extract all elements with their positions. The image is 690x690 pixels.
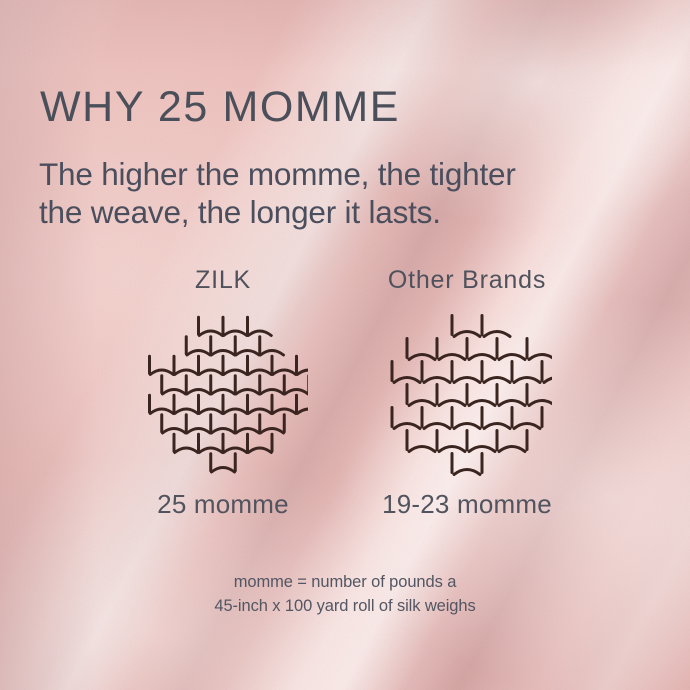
subtitle-line-2: the weave, the longer it lasts.: [39, 193, 639, 231]
column-value-zilk: 25 momme: [157, 491, 289, 517]
silk-momme-infographic: WHY 25 MOMME The higher the momme, the t…: [0, 0, 690, 690]
comparison-columns: ZILK 25 momme Other Brands 19-23 momme: [0, 268, 690, 517]
column-value-other-brands: 19-23 momme: [382, 491, 552, 517]
subtitle: The higher the momme, the tighter the we…: [39, 155, 639, 231]
infographic-content: WHY 25 MOMME The higher the momme, the t…: [0, 0, 690, 690]
loose-weave-icon: [382, 311, 552, 477]
subtitle-line-1: The higher the momme, the tighter: [39, 155, 639, 193]
footnote-line-2: 45-inch x 100 yard roll of silk weighs: [0, 594, 690, 618]
page-title: WHY 25 MOMME: [40, 86, 400, 129]
comparison-column-zilk: ZILK 25 momme: [128, 268, 318, 517]
footnote-line-1: momme = number of pounds a: [0, 570, 690, 594]
column-title-other-brands: Other Brands: [388, 268, 546, 293]
footnote: momme = number of pounds a 45-inch x 100…: [0, 570, 690, 618]
comparison-column-other-brands: Other Brands 19-23 momme: [372, 268, 562, 517]
column-title-zilk: ZILK: [195, 268, 251, 293]
tight-weave-icon: [138, 311, 308, 477]
